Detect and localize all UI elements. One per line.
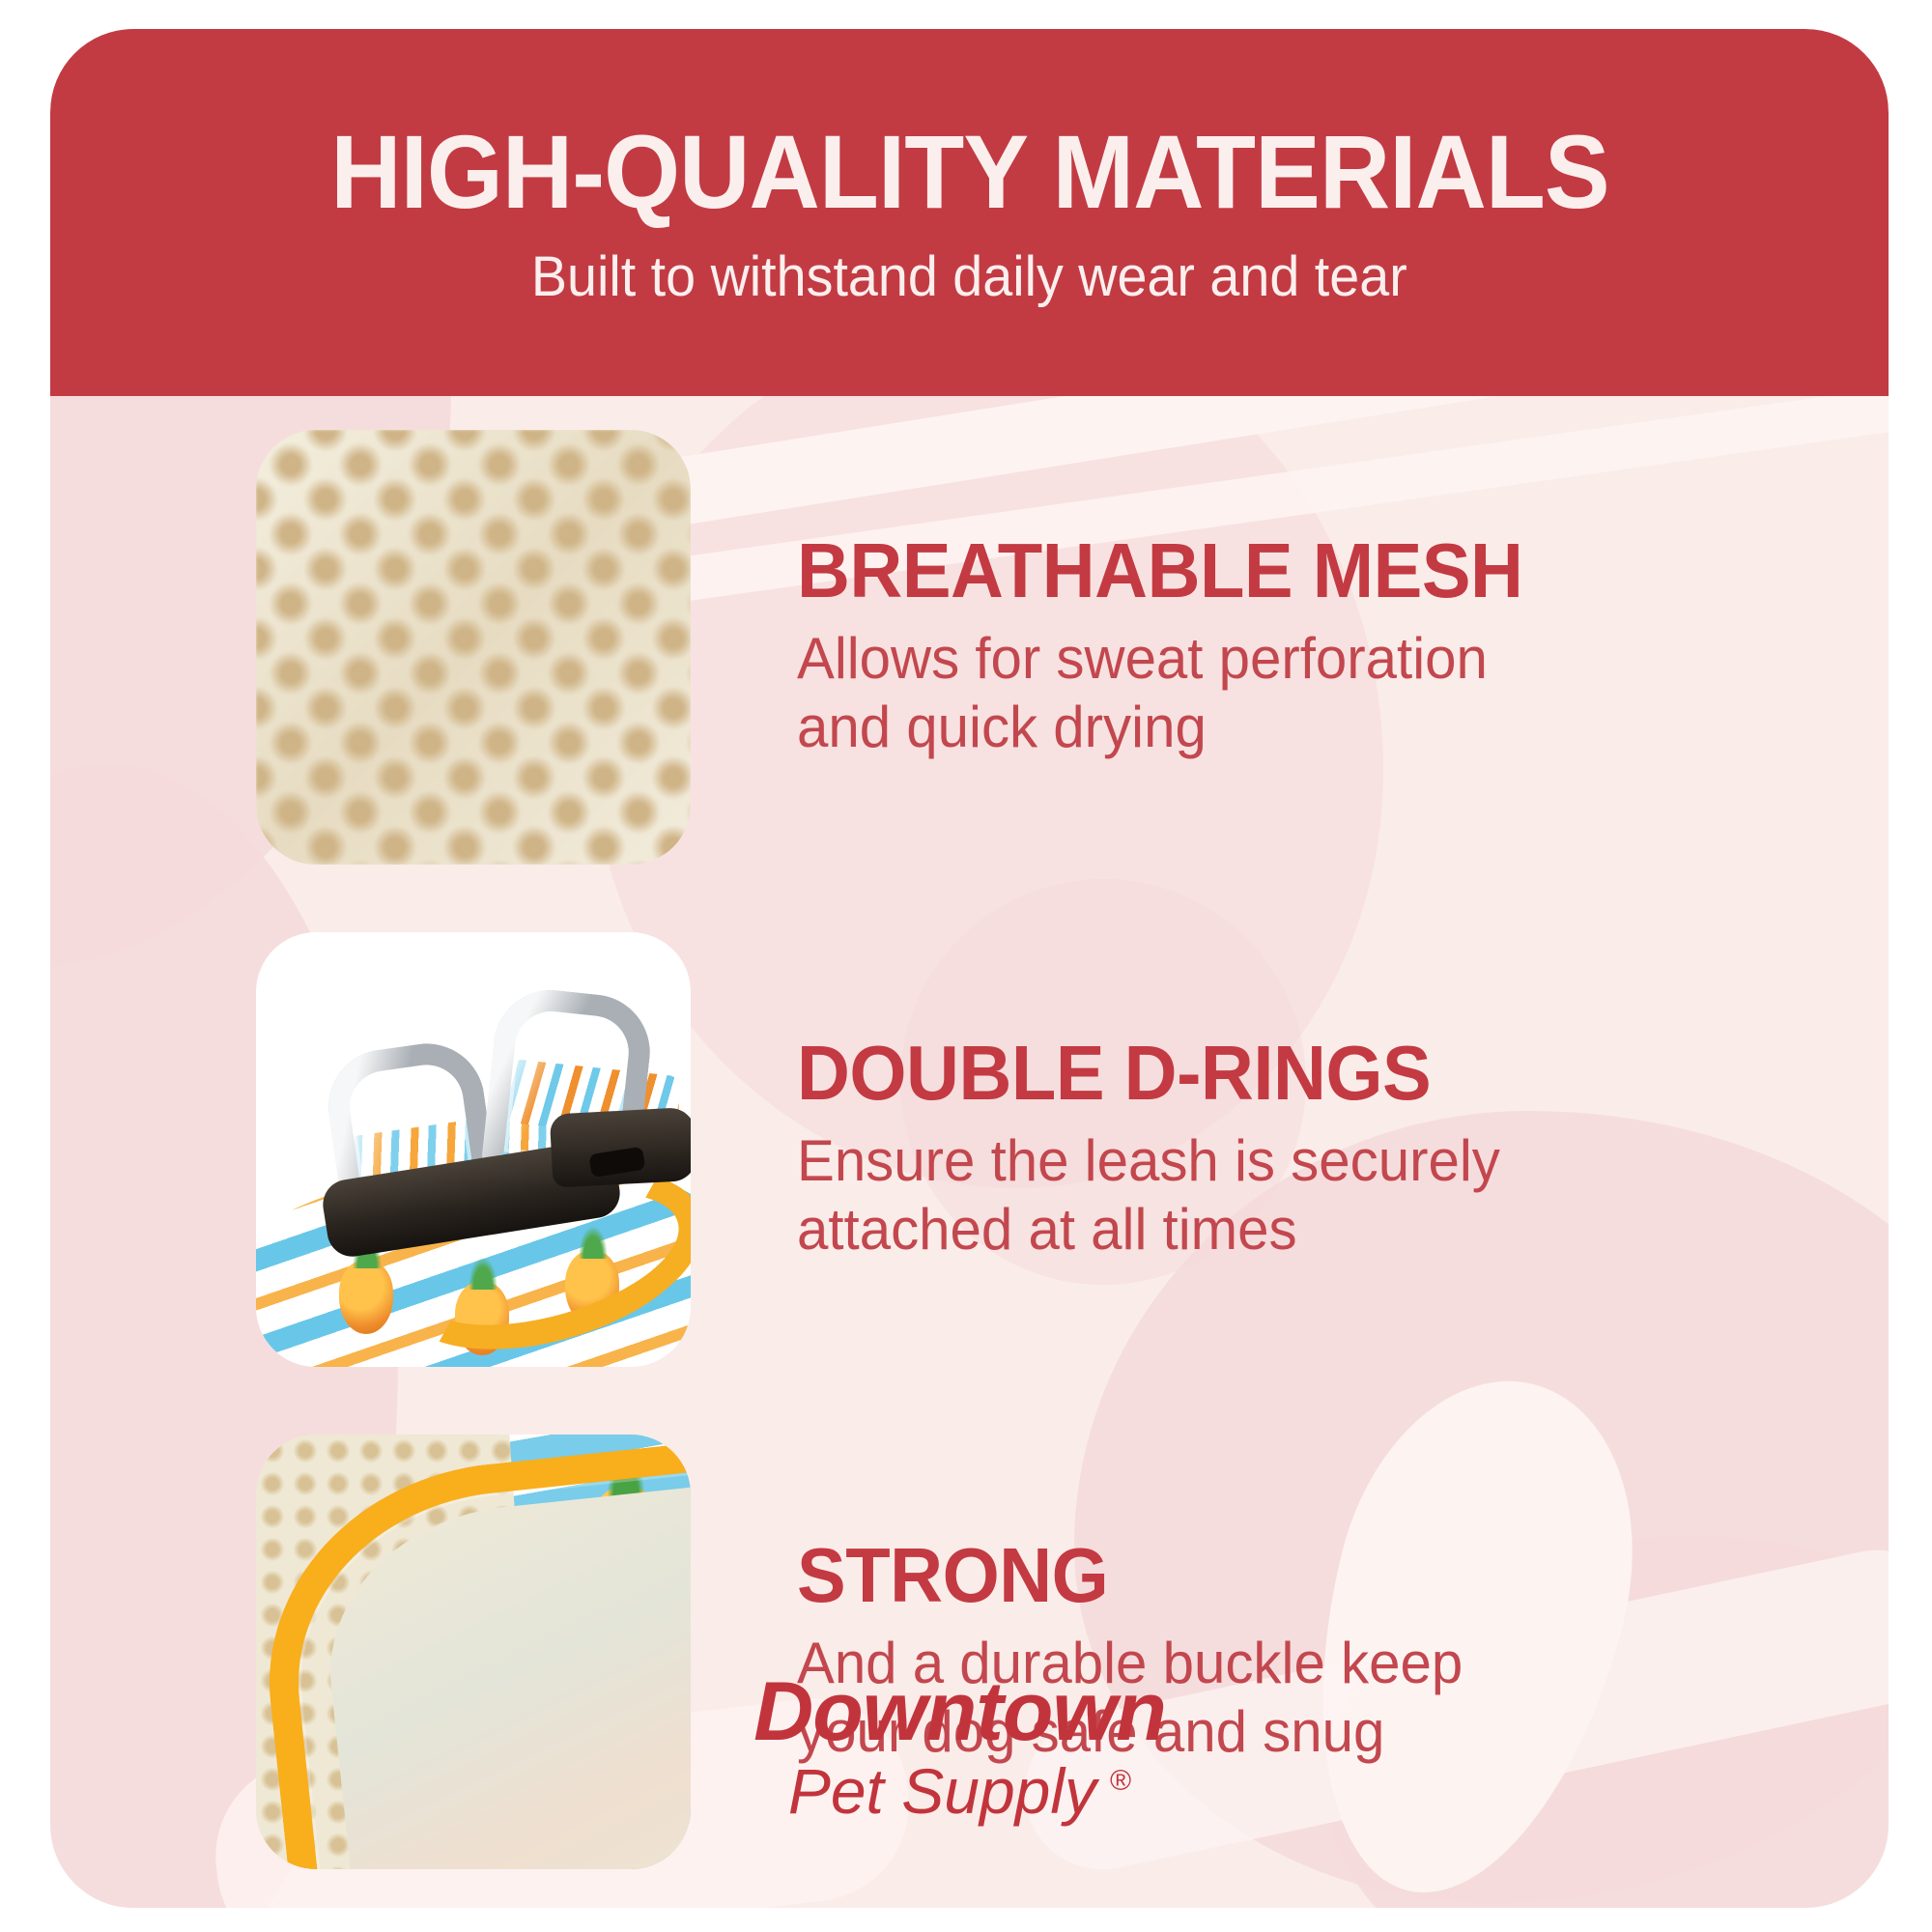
feature-description-line-2: and quick drying [797, 694, 1538, 762]
feature-row-double-d-rings: DOUBLE D-RINGS Ensure the leash is secur… [50, 898, 1889, 1401]
feature-title: STRONG [797, 1537, 1449, 1614]
header-banner: HIGH-QUALITY MATERIALS Built to withstan… [50, 29, 1889, 396]
logo-wordmark-secondary: Pet Supply [788, 1759, 1096, 1823]
mesh-texture-graphic [256, 430, 691, 865]
brand-logo: Downtown Pet Supply ® [50, 1670, 1879, 1823]
feature-copy: BREATHABLE MESH Allows for sweat perfora… [797, 532, 1561, 762]
page-title: HIGH-QUALITY MATERIALS [330, 120, 1608, 224]
d-ring-photo-graphic [256, 932, 691, 1367]
feature-description-line-1: Ensure the leash is securely [797, 1127, 1500, 1196]
infographic-canvas: HIGH-QUALITY MATERIALS Built to withstan… [0, 0, 1932, 1932]
feature-copy: DOUBLE D-RINGS Ensure the leash is secur… [797, 1035, 1521, 1264]
feature-row-breathable-mesh: BREATHABLE MESH Allows for sweat perfora… [50, 396, 1889, 898]
feature-row-strong: STRONG And a durable buckle keep your do… [50, 1401, 1889, 1903]
feature-description-line-1: Allows for sweat perforation [797, 625, 1538, 694]
content-panel: HIGH-QUALITY MATERIALS Built to withstan… [50, 29, 1889, 1908]
logo-wordmark-secondary-row: Pet Supply ® [788, 1759, 1131, 1823]
feature-description-line-2: attached at all times [797, 1196, 1500, 1264]
feature-title: DOUBLE D-RINGS [797, 1035, 1486, 1112]
double-d-rings-image [256, 932, 691, 1367]
breathable-mesh-image [256, 430, 691, 865]
feature-title: BREATHABLE MESH [797, 532, 1522, 610]
logo-wordmark-primary: Downtown [753, 1670, 1166, 1753]
registered-trademark-icon: ® [1110, 1767, 1131, 1796]
pineapple-icon [339, 1261, 393, 1334]
page-subtitle: Built to withstand daily wear and tear [531, 249, 1407, 305]
